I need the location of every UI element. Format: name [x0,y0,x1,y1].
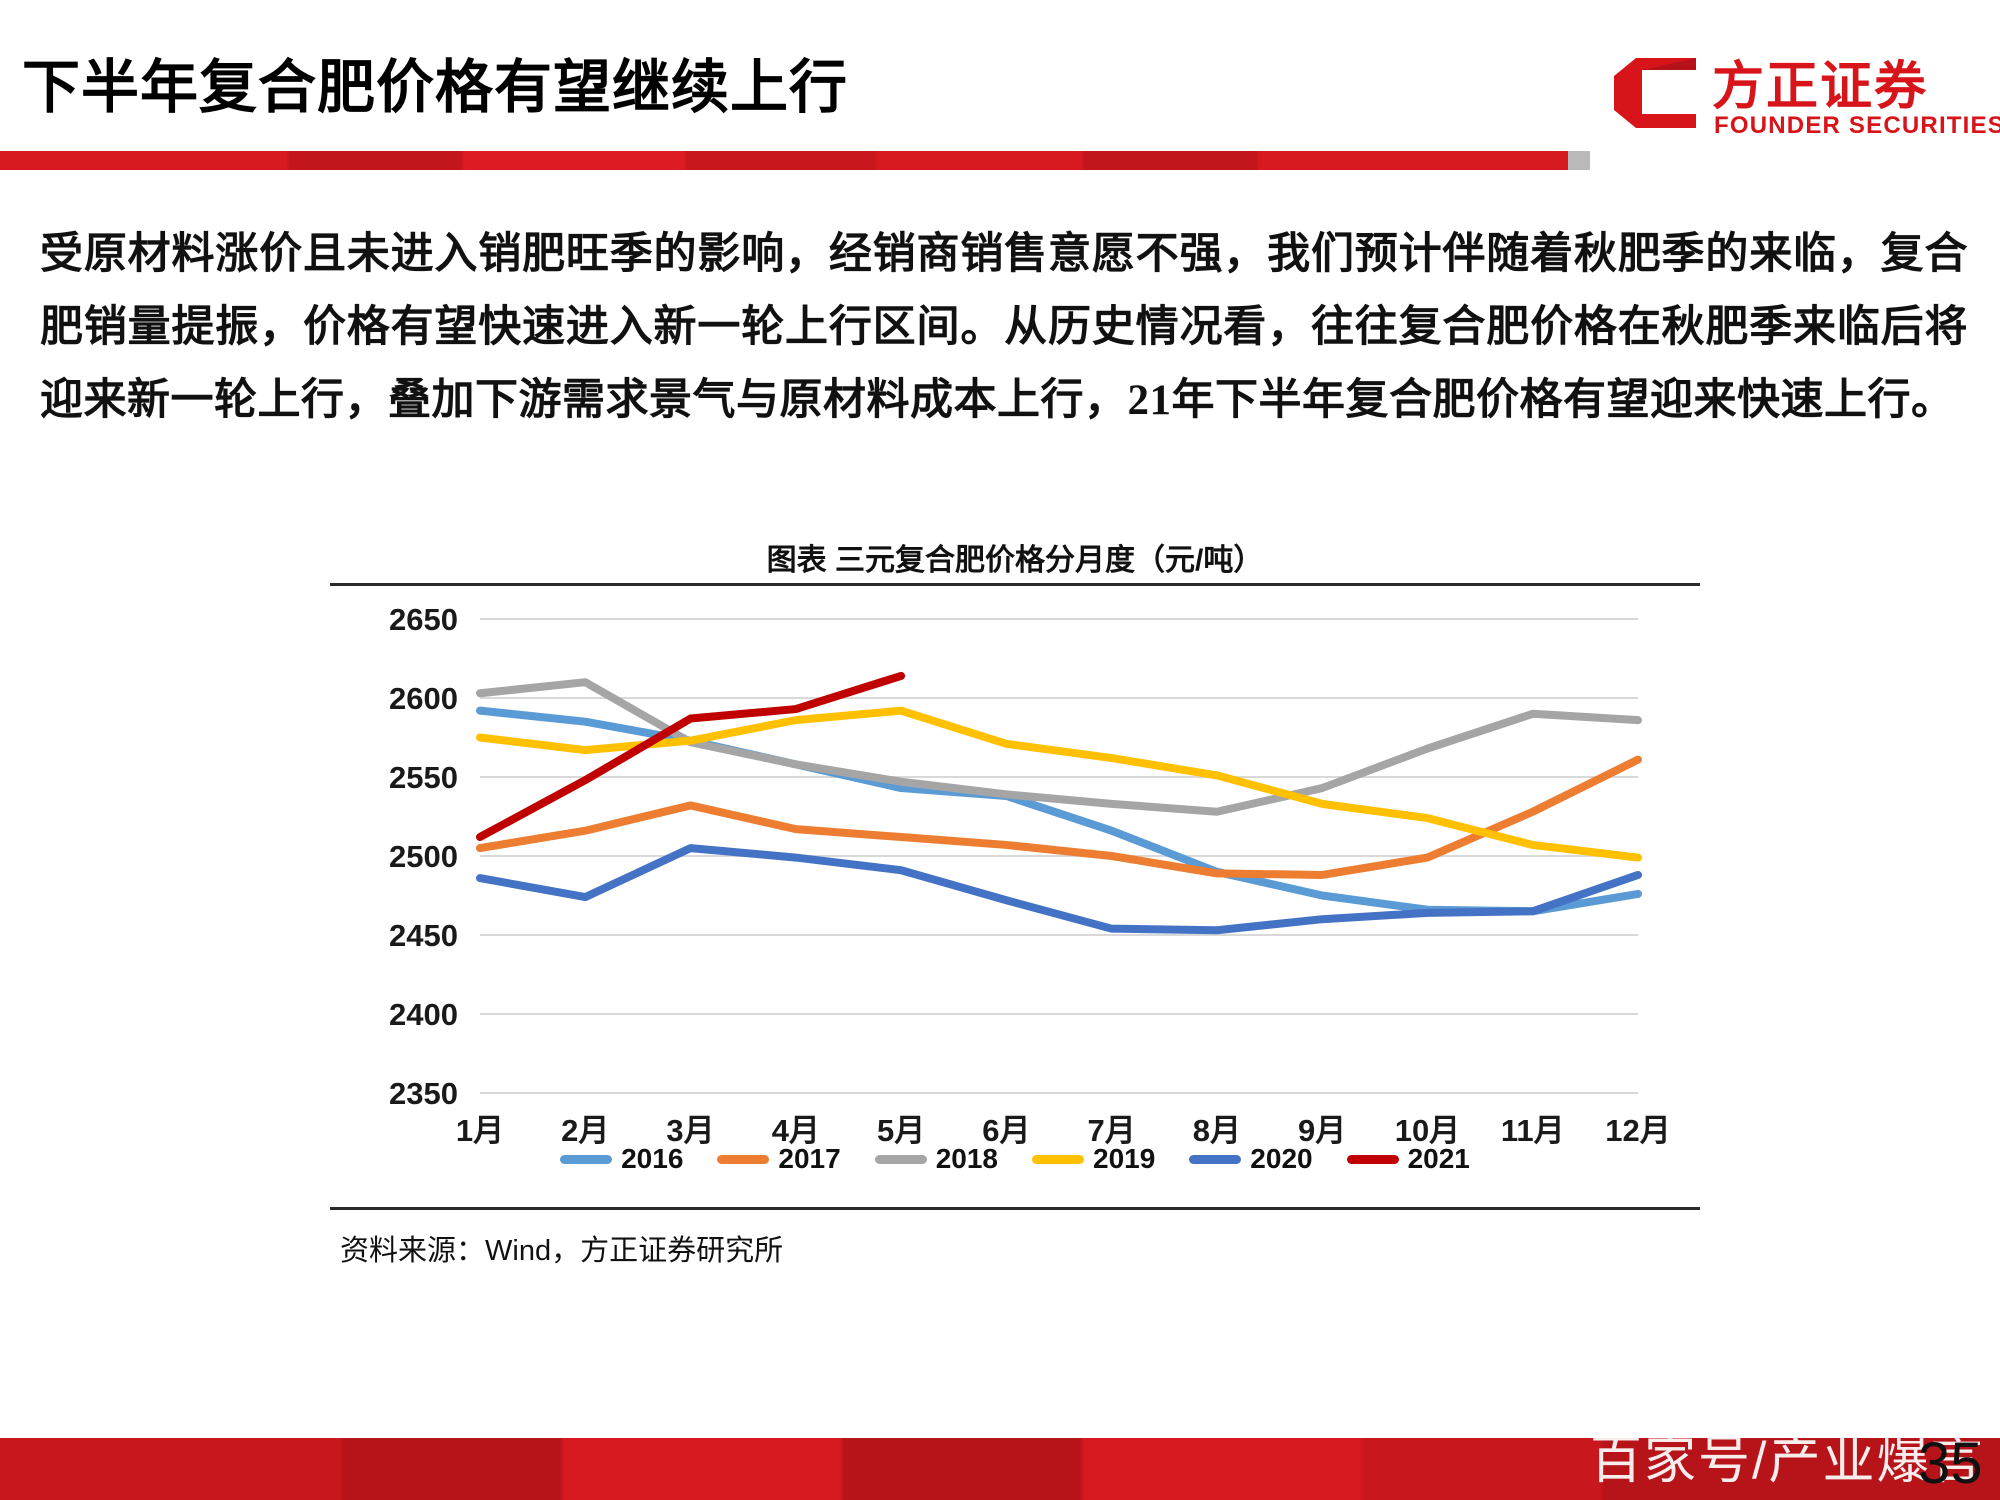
legend-swatch-icon [717,1155,769,1164]
logo-text-cn: 方正证券 [1712,44,1928,119]
slide-header: 下半年复合肥价格有望继续上行 方正证券 FOUNDER SECURITIES [0,0,2000,175]
series-line-2020 [480,848,1638,930]
y-axis-tick-label: 2450 [389,918,458,953]
slide-root: 下半年复合肥价格有望继续上行 方正证券 FOUNDER SECURITIES 受… [0,0,2000,1500]
body-paragraph: 受原材料涨价且未进入销肥旺季的影响，经销商销售意愿不强，我们预计伴随着秋肥季的来… [40,218,1968,437]
legend-item-2020[interactable]: 2020 [1189,1143,1312,1175]
y-axis-tick-label: 2600 [389,681,458,716]
page-number: 35 [1918,1430,1983,1497]
legend-item-2019[interactable]: 2019 [1032,1143,1155,1175]
y-axis-tick-label: 2550 [389,760,458,795]
page-title: 下半年复合肥价格有望继续上行 [22,40,848,124]
legend-item-2021[interactable]: 2021 [1347,1143,1470,1175]
legend-item-2016[interactable]: 2016 [560,1143,683,1175]
y-axis-tick-label: 2500 [389,839,458,874]
chart-divider-top [330,583,1700,586]
legend-item-2018[interactable]: 2018 [875,1143,998,1175]
chart-svg: 23502400245025002550260026501月2月3月4月5月6月… [330,605,1700,1165]
y-axis-tick-label: 2350 [389,1076,458,1111]
chart-legend: 201620172018201920202021 [330,1143,1700,1175]
header-rule-bar [0,151,1590,170]
chart-source-note: 资料来源：Wind，方正证券研究所 [340,1227,783,1269]
legend-swatch-icon [875,1155,927,1164]
legend-label: 2016 [621,1143,683,1175]
series-line-2021 [480,676,901,837]
legend-label: 2021 [1408,1143,1470,1175]
logo-cube-icon [1612,56,1698,130]
legend-swatch-icon [1032,1155,1084,1164]
legend-swatch-icon [1189,1155,1241,1164]
y-axis-tick-label: 2650 [389,605,458,637]
chart-title: 图表 三元复合肥价格分月度（元/吨） [330,535,1700,579]
legend-label: 2018 [936,1143,998,1175]
legend-label: 2020 [1250,1143,1312,1175]
header-rule-tail [1568,151,1590,170]
legend-swatch-icon [560,1155,612,1164]
y-axis-tick-label: 2400 [389,997,458,1032]
legend-item-2017[interactable]: 2017 [717,1143,840,1175]
founder-securities-logo: 方正证券 FOUNDER SECURITIES [1612,42,1972,150]
legend-label: 2019 [1093,1143,1155,1175]
chart-block: 图表 三元复合肥价格分月度（元/吨） 235024002450250025502… [330,535,1700,1295]
line-chart-plot: 23502400245025002550260026501月2月3月4月5月6月… [330,605,1700,1165]
legend-label: 2017 [778,1143,840,1175]
chart-divider-bottom [330,1207,1700,1210]
legend-swatch-icon [1347,1155,1399,1164]
logo-text-en: FOUNDER SECURITIES [1714,112,2000,140]
